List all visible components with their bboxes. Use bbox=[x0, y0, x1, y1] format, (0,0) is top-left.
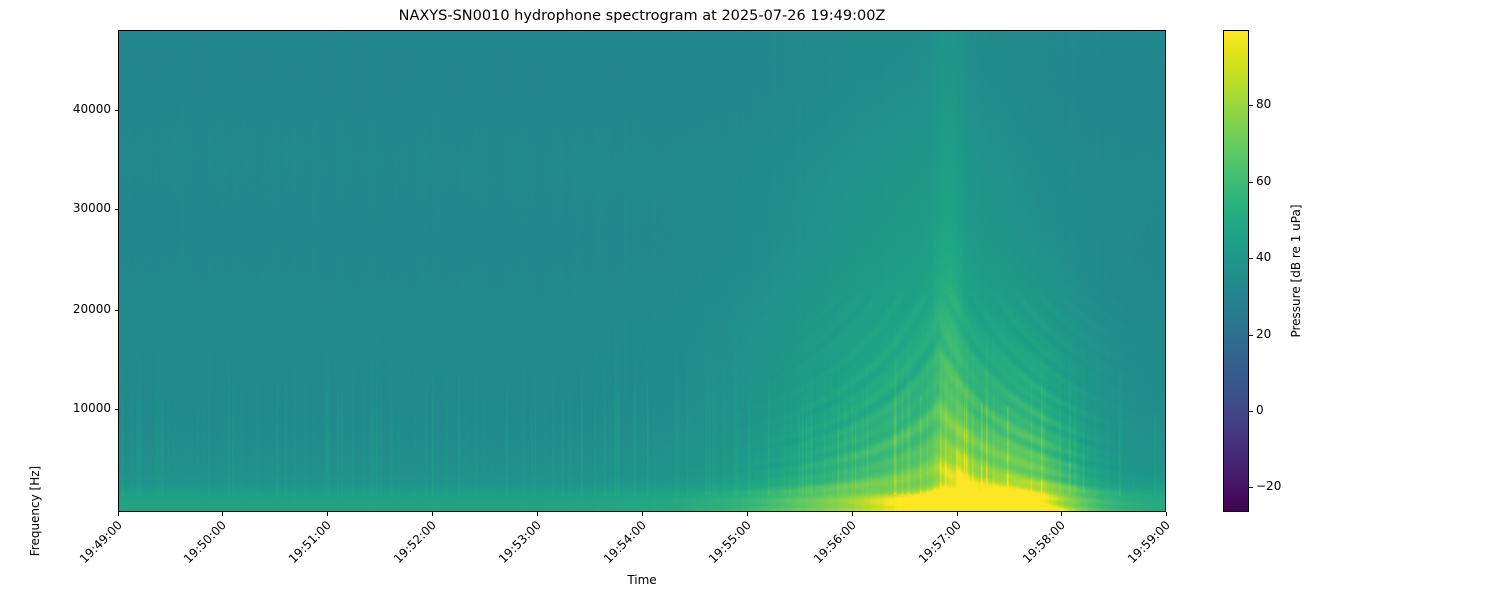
y-tick-mark bbox=[115, 209, 119, 210]
x-tick: 19:56:00 bbox=[852, 512, 853, 516]
x-tick-mark bbox=[537, 512, 538, 516]
x-tick-mark bbox=[432, 512, 433, 516]
x-tick-mark bbox=[118, 512, 119, 516]
colorbar-tick-mark bbox=[1249, 411, 1253, 412]
colorbar-tick-mark bbox=[1249, 258, 1253, 259]
x-tick-mark bbox=[642, 512, 643, 516]
x-tick-label: 19:50:00 bbox=[181, 518, 229, 566]
colorbar-tick-label: −20 bbox=[1256, 478, 1281, 495]
figure-canvas: NAXYS-SN0010 hydrophone spectrogram at 2… bbox=[0, 0, 1500, 600]
y-tick-label: 40000 bbox=[73, 101, 111, 118]
x-tick: 19:50:00 bbox=[222, 512, 223, 516]
x-tick-label: 19:54:00 bbox=[601, 518, 649, 566]
x-tick-mark bbox=[1061, 512, 1062, 516]
x-tick: 19:54:00 bbox=[642, 512, 643, 516]
y-tick-mark bbox=[115, 110, 119, 111]
x-tick: 19:53:00 bbox=[537, 512, 538, 516]
y-tick-mark bbox=[115, 409, 119, 410]
x-tick: 19:55:00 bbox=[747, 512, 748, 516]
x-tick-label: 19:52:00 bbox=[391, 518, 439, 566]
y-tick-label: 10000 bbox=[73, 400, 111, 417]
x-tick-label: 19:53:00 bbox=[496, 518, 544, 566]
x-tick-label: 19:49:00 bbox=[77, 518, 125, 566]
y-axis-label: Frequency [Hz] bbox=[28, 466, 42, 557]
x-tick-mark bbox=[747, 512, 748, 516]
x-tick: 19:52:00 bbox=[432, 512, 433, 516]
x-tick-label: 19:55:00 bbox=[706, 518, 754, 566]
x-tick-mark bbox=[852, 512, 853, 516]
x-tick-label: 19:51:00 bbox=[286, 518, 334, 566]
y-tick-mark bbox=[115, 310, 119, 311]
colorbar-tick-mark bbox=[1249, 335, 1253, 336]
y-tick-label: 20000 bbox=[73, 301, 111, 318]
colorbar-tick-label: 80 bbox=[1256, 96, 1271, 113]
y-tick: 30000 bbox=[0, 209, 118, 210]
colorbar-tick-label: 20 bbox=[1256, 326, 1271, 343]
x-tick-mark bbox=[222, 512, 223, 516]
x-tick: 19:59:00 bbox=[1166, 512, 1167, 516]
x-tick: 19:57:00 bbox=[957, 512, 958, 516]
x-tick-mark bbox=[1166, 512, 1167, 516]
colorbar[interactable] bbox=[1223, 30, 1249, 512]
x-tick-label: 19:57:00 bbox=[916, 518, 964, 566]
x-axis-label: Time bbox=[118, 573, 1166, 587]
x-tick-label: 19:56:00 bbox=[811, 518, 859, 566]
spectrogram-plot-area[interactable] bbox=[118, 30, 1166, 512]
y-tick: 10000 bbox=[0, 409, 118, 410]
y-tick: 40000 bbox=[0, 110, 118, 111]
x-tick-mark bbox=[327, 512, 328, 516]
x-tick-mark bbox=[957, 512, 958, 516]
colorbar-tick-mark bbox=[1249, 105, 1253, 106]
page-title: NAXYS-SN0010 hydrophone spectrogram at 2… bbox=[118, 8, 1166, 25]
colorbar-tick-label: 40 bbox=[1256, 249, 1271, 266]
colorbar-tick-mark bbox=[1249, 182, 1253, 183]
colorbar-tick-label: 0 bbox=[1256, 402, 1264, 419]
y-tick-label: 30000 bbox=[73, 200, 111, 217]
y-tick: 20000 bbox=[0, 310, 118, 311]
colorbar-label: Pressure [dB re 1 uPa] bbox=[1289, 204, 1303, 337]
x-tick-label: 19:59:00 bbox=[1125, 518, 1173, 566]
spectrogram-image bbox=[119, 31, 1165, 511]
x-tick-label: 19:58:00 bbox=[1020, 518, 1068, 566]
x-tick: 19:51:00 bbox=[327, 512, 328, 516]
colorbar-tick-label: 60 bbox=[1256, 173, 1271, 190]
colorbar-tick-mark bbox=[1249, 487, 1253, 488]
x-tick: 19:58:00 bbox=[1061, 512, 1062, 516]
x-tick: 19:49:00 bbox=[118, 512, 119, 516]
